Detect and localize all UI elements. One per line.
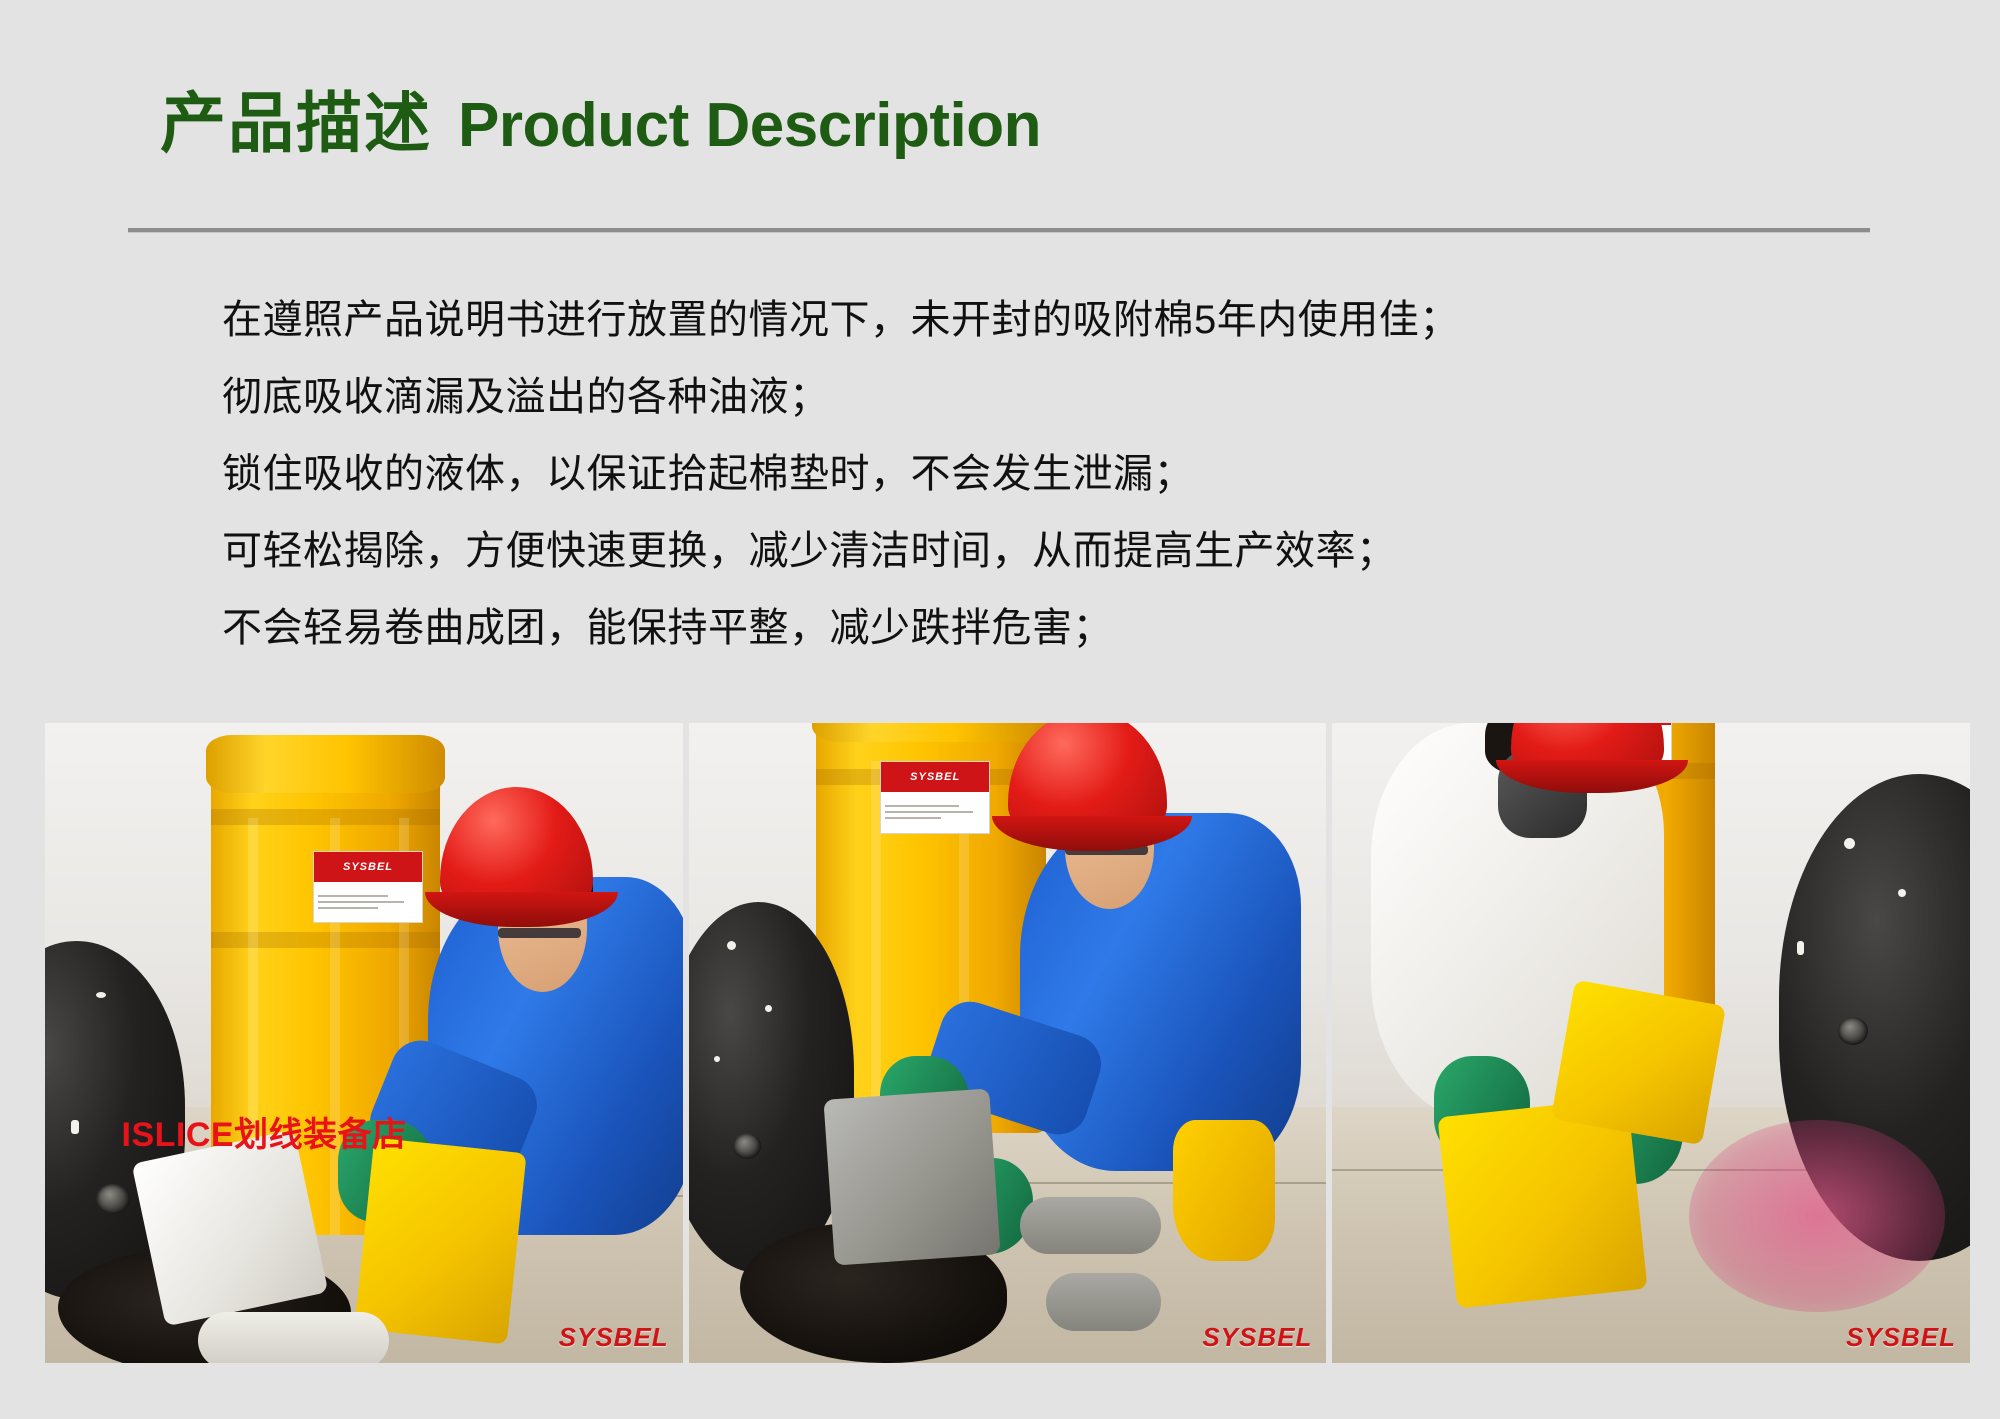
drum-speck (1797, 941, 1804, 955)
drum-speck (71, 1120, 79, 1134)
drum-bung (96, 1184, 130, 1214)
absorbent-sock (198, 1312, 389, 1363)
page-title-cn: 产品描述 (160, 86, 432, 160)
white-absorbent-pad (132, 1130, 329, 1327)
description-line: 锁住吸收的液体，以保证拾起棉垫时，不会发生泄漏； (222, 436, 1822, 513)
red-hard-hat (1008, 723, 1167, 845)
drum-speck (96, 992, 106, 998)
product-photo-gallery: SYSBEL (45, 723, 1970, 1363)
drum-lid (206, 735, 445, 793)
description-list: 在遵照产品说明书进行放置的情况下，未开封的吸附棉5年内使用佳； 彻底吸收滴漏及溢… (222, 282, 1822, 667)
drum-label-body (314, 882, 422, 923)
drum-speck (727, 941, 736, 950)
grey-absorbent-pad (823, 1089, 1000, 1267)
drum-label-brand: SYSBEL (881, 762, 989, 792)
page-title: 产品描述Product Description (160, 70, 1041, 166)
drum-lid (812, 723, 1051, 742)
chemical-spill (1689, 1120, 1944, 1312)
description-line: 可轻松揭除，方便快速更换，减少清洁时间，从而提高生产效率； (222, 513, 1822, 590)
drum-label-brand: SYSBEL (314, 852, 422, 882)
sysbel-brand-logo: SYSBEL (559, 1322, 669, 1353)
page-title-en: Product Description (458, 91, 1041, 160)
red-hard-hat (1511, 723, 1664, 787)
absorbent-sock (1046, 1273, 1161, 1331)
absorbent-sock (1020, 1197, 1160, 1255)
drum-speck (714, 1056, 720, 1062)
description-line: 不会轻易卷曲成团，能保持平整，减少跌拌危害； (222, 590, 1822, 667)
photo-scene-2: SYSBEL (689, 723, 1327, 1363)
safety-glasses (498, 928, 581, 938)
description-line: 在遵照产品说明书进行放置的情况下，未开封的吸附棉5年内使用佳； (222, 282, 1822, 359)
drum-product-label: SYSBEL (313, 851, 423, 923)
drum-label-body (881, 792, 989, 833)
yellow-absorbent-pad (1551, 980, 1726, 1145)
gallery-photo-2[interactable]: SYSBEL (689, 723, 1327, 1363)
title-divider (128, 228, 1870, 233)
drum-speck (765, 1005, 772, 1012)
description-line: 彻底吸收滴漏及溢出的各种油液； (222, 359, 1822, 436)
drum-bung (733, 1133, 761, 1159)
drum-product-label: SYSBEL (880, 761, 990, 833)
sysbel-brand-logo: SYSBEL (1846, 1322, 1956, 1353)
sysbel-brand-logo: SYSBEL (1202, 1322, 1312, 1353)
gallery-photo-3[interactable]: SYSBEL (1332, 723, 1970, 1363)
photo-scene-3: SYSBEL (1332, 723, 1970, 1363)
yellow-safety-boot (1173, 1120, 1275, 1261)
yellow-absorbent-pad-pack (354, 1138, 526, 1345)
shop-watermark: ISLICE划线装备店 (122, 1107, 407, 1156)
photo-scene-1: SYSBEL (45, 723, 683, 1363)
gallery-photo-1[interactable]: SYSBEL (45, 723, 683, 1363)
